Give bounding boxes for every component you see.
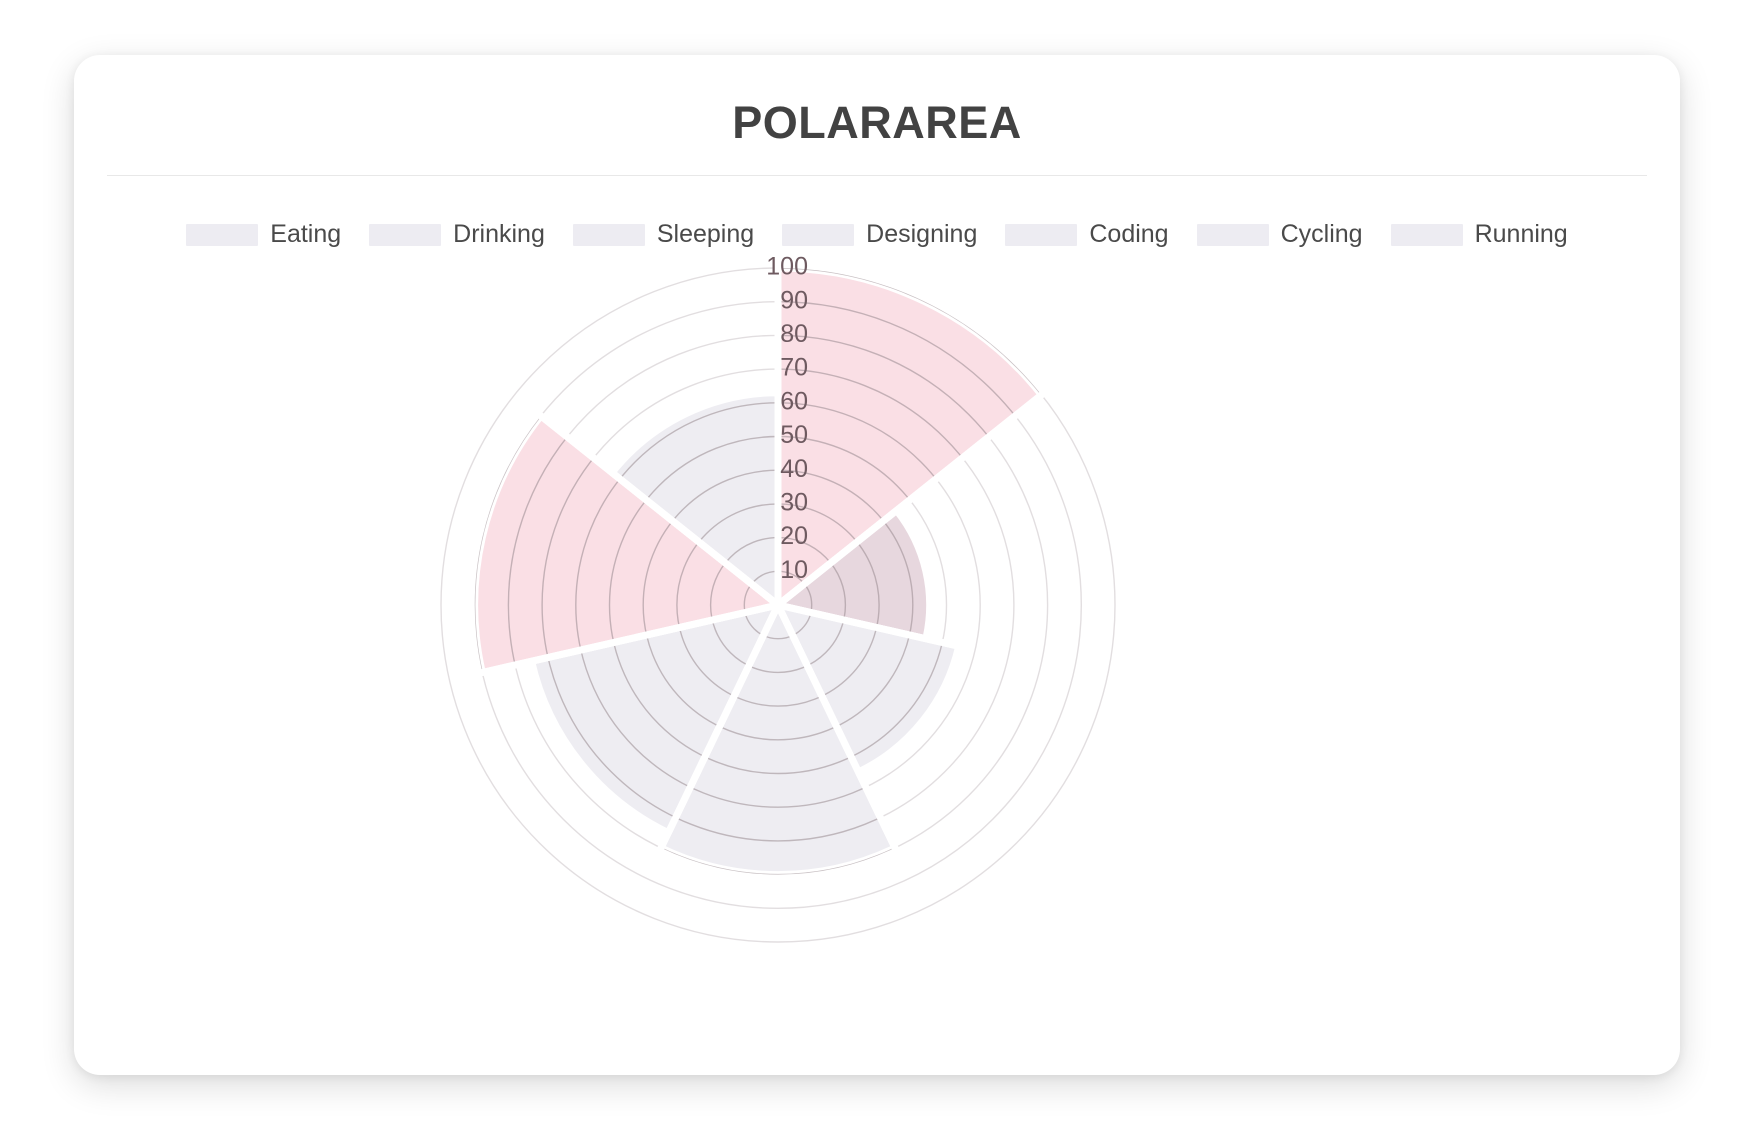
tick-label: 90 — [780, 286, 808, 314]
tick-label: 60 — [780, 387, 808, 415]
tick-label: 70 — [780, 354, 808, 382]
tick-label: 50 — [780, 421, 808, 449]
tick-label: 30 — [780, 489, 808, 517]
tick-label: 10 — [780, 556, 808, 584]
tick-label: 40 — [780, 455, 808, 483]
polar-area-chart: 100908070605040302010 — [74, 55, 1680, 1075]
tick-label: 20 — [780, 522, 808, 550]
tick-label: 100 — [766, 253, 808, 281]
chart-card: POLARAREA EatingDrinkingSleepingDesignin… — [74, 55, 1680, 1075]
page-root: POLARAREA EatingDrinkingSleepingDesignin… — [0, 0, 1763, 1146]
tick-label: 80 — [780, 320, 808, 348]
